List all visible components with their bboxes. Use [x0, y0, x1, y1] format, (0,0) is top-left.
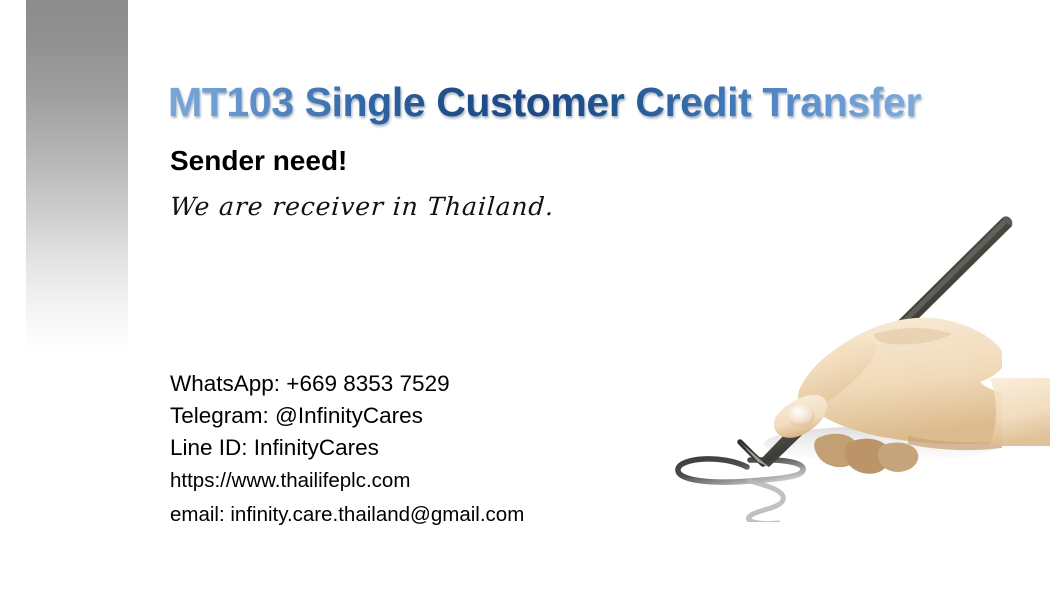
page-title: MT103 Single Customer Credit Transfer	[168, 78, 921, 126]
contact-line-telegram: Telegram: @InfinityCares	[170, 400, 690, 432]
ink-squiggle	[678, 459, 803, 482]
contact-line-lineid: Line ID: InfinityCares	[170, 432, 690, 464]
ink-squiggle-lower	[749, 481, 784, 522]
script-tagline: We are receiver in Thailand.	[169, 190, 556, 224]
slide-canvas: MT103 Single Customer Credit Transfer Se…	[0, 0, 1063, 600]
contact-block: WhatsApp: +669 8353 7529 Telegram: @Infi…	[170, 368, 690, 532]
subheading: Sender need!	[170, 144, 347, 178]
contact-line-whatsapp: WhatsApp: +669 8353 7529	[170, 368, 690, 400]
contact-line-website[interactable]: https://www.thailifeplc.com	[170, 464, 690, 498]
contact-line-email[interactable]: email: infinity.care.thailand@gmail.com	[170, 498, 690, 532]
wrist	[990, 378, 1050, 446]
hand-writing-with-pen-illustration	[650, 192, 1050, 522]
thumb-knuckle	[787, 405, 815, 427]
decorative-gradient-bar	[26, 0, 128, 352]
